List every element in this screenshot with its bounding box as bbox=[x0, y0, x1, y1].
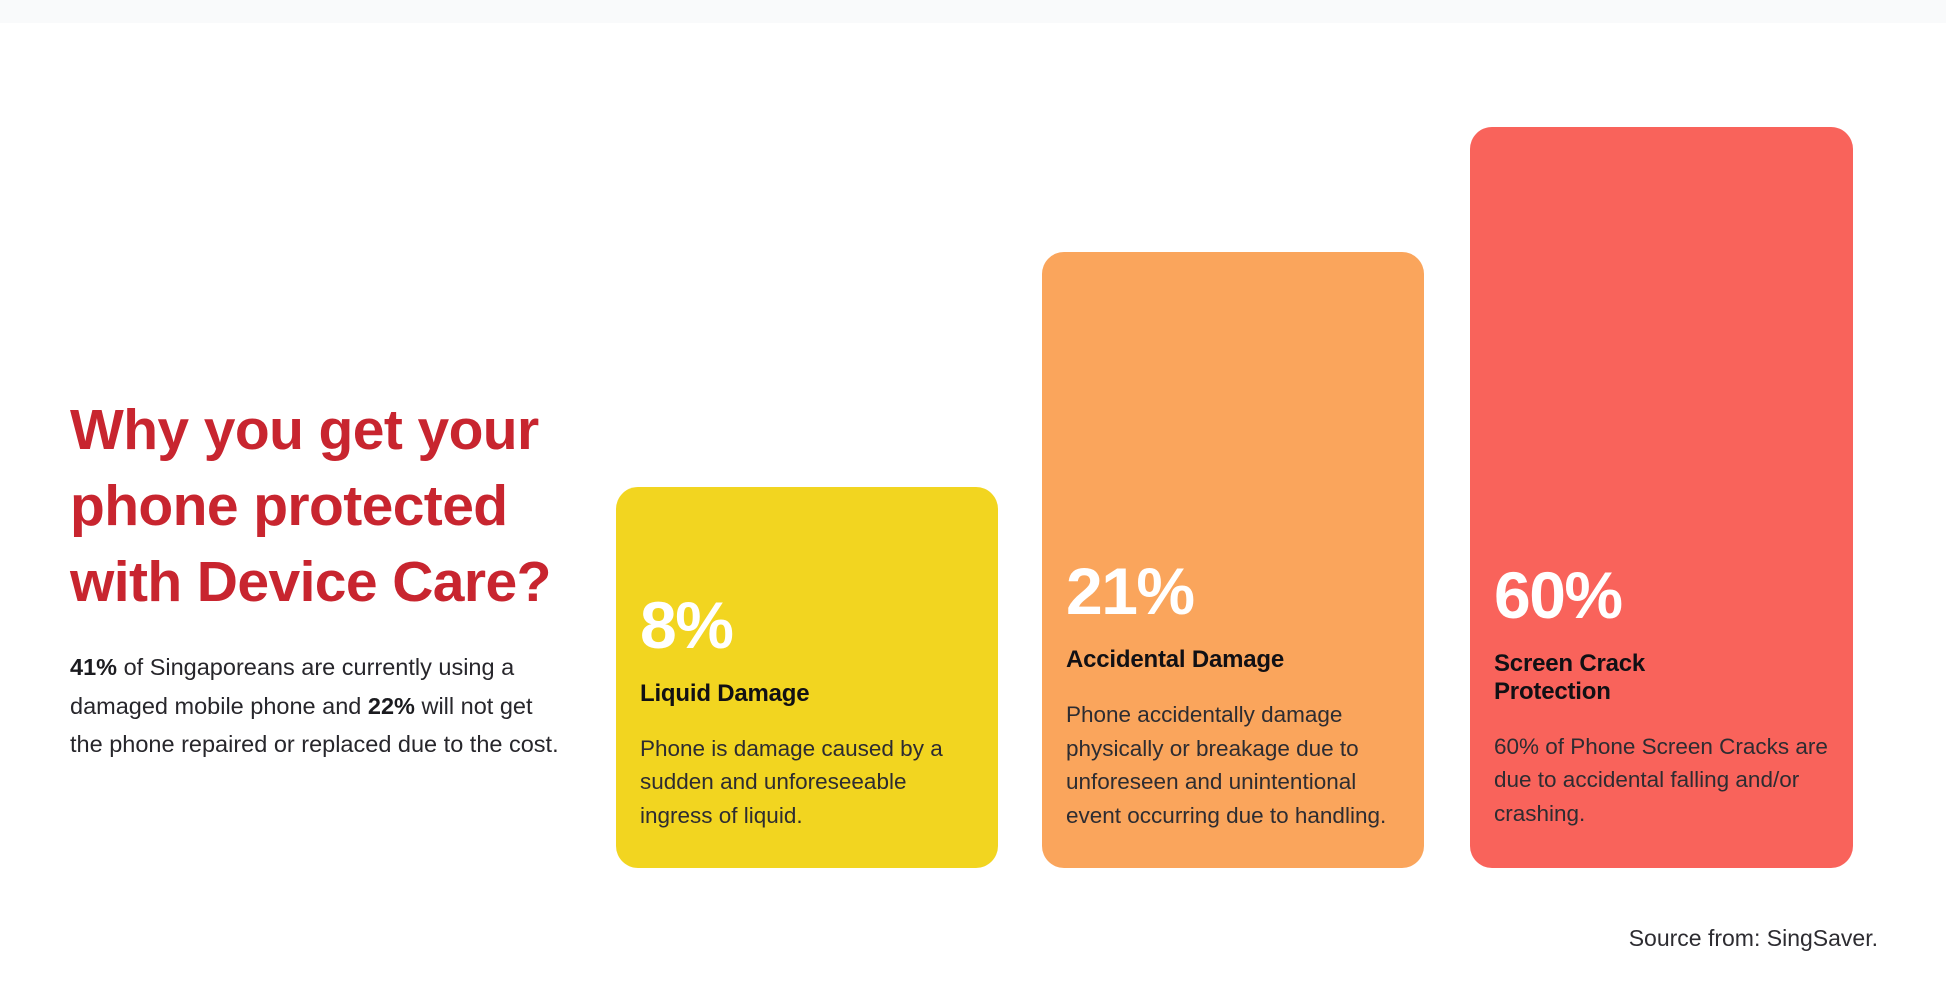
bar-screen-crack-protection-content: 60% Screen Crack Protection 60% of Phone… bbox=[1470, 560, 1853, 869]
bar-screen-crack-protection-description: 60% of Phone Screen Cracks are due to ac… bbox=[1494, 706, 1829, 831]
bar-accidental-damage: 21% Accidental Damage Phone accidentally… bbox=[1042, 252, 1424, 868]
bar-liquid-damage-content: 8% Liquid Damage Phone is damage caused … bbox=[616, 590, 998, 869]
bar-liquid-damage: 8% Liquid Damage Phone is damage caused … bbox=[616, 487, 998, 868]
source-attribution: Source from: SingSaver. bbox=[1629, 922, 1878, 954]
bar-liquid-damage-percent: 8% bbox=[640, 590, 974, 660]
intro-stat-primary: 41% bbox=[70, 654, 117, 680]
top-strip bbox=[0, 0, 1946, 23]
intro-stat-secondary: 22% bbox=[368, 693, 415, 719]
bar-screen-crack-protection: 60% Screen Crack Protection 60% of Phone… bbox=[1470, 127, 1853, 868]
bar-accidental-damage-content: 21% Accidental Damage Phone accidentally… bbox=[1042, 556, 1424, 868]
intro-block: Why you get your phone protected with De… bbox=[70, 392, 570, 764]
bar-liquid-damage-title: Liquid Damage bbox=[640, 660, 974, 708]
page-title: Why you get your phone protected with De… bbox=[70, 392, 570, 620]
infographic-canvas: Why you get your phone protected with De… bbox=[0, 0, 1946, 996]
intro-paragraph: 41% of Singaporeans are currently using … bbox=[70, 620, 562, 764]
bar-accidental-damage-percent: 21% bbox=[1066, 556, 1400, 626]
bar-screen-crack-protection-percent: 60% bbox=[1494, 560, 1829, 630]
bar-screen-crack-protection-title: Screen Crack Protection bbox=[1494, 630, 1704, 706]
bar-accidental-damage-description: Phone accidentally damage physically or … bbox=[1066, 674, 1400, 832]
bar-accidental-damage-title: Accidental Damage bbox=[1066, 626, 1400, 674]
bar-liquid-damage-description: Phone is damage caused by a sudden and u… bbox=[640, 708, 974, 833]
